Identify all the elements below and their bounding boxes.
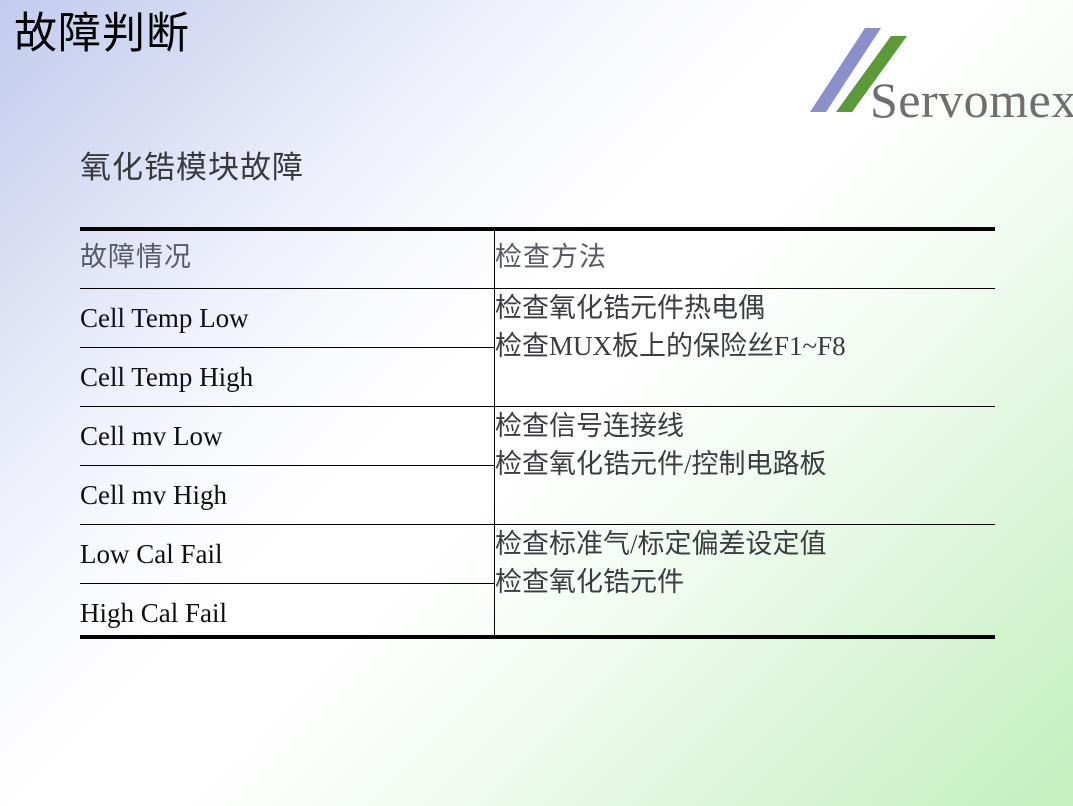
method-cell: 检查信号连接线 检查氧化锆元件/控制电路板 <box>495 407 995 525</box>
method-line: 检查氧化锆元件热电偶 <box>495 289 995 327</box>
fault-cell: Cell mv Low <box>80 407 495 466</box>
table-header-method: 检查方法 <box>495 227 995 289</box>
fault-cell: Cell Temp Low <box>80 289 495 348</box>
method-cell: 检查氧化锆元件热电偶 检查MUX板上的保险丝F1~F8 <box>495 289 995 407</box>
fault-diagnosis-table: 故障情况 检查方法 Cell Temp Low 检查氧化锆元件热电偶 检查MUX… <box>80 227 995 642</box>
page-title: 故障判断 <box>14 6 190 64</box>
table-row: Cell mv Low 检查信号连接线 检查氧化锆元件/控制电路板 <box>80 407 995 466</box>
method-cell: 检查标准气/标定偏差设定值 检查氧化锆元件 <box>495 525 995 643</box>
fault-cell: Cell Temp High <box>80 348 495 407</box>
section-subtitle: 氧化锆模块故障 <box>80 146 304 190</box>
method-line: 检查氧化锆元件 <box>495 563 995 601</box>
table-header-fault: 故障情况 <box>80 227 495 289</box>
table-row: Cell Temp Low 检查氧化锆元件热电偶 检查MUX板上的保险丝F1~F… <box>80 289 995 348</box>
fault-cell: High Cal Fail <box>80 584 495 643</box>
method-line: 检查MUX板上的保险丝F1~F8 <box>495 327 995 365</box>
method-line: 检查标准气/标定偏差设定值 <box>495 525 995 563</box>
logo-wordmark: Servomex <box>870 74 1073 126</box>
fault-cell: Cell mv High <box>80 466 495 525</box>
table-header-row: 故障情况 检查方法 <box>80 227 995 289</box>
method-line: 检查信号连接线 <box>495 407 995 445</box>
servomex-logo: Servomex <box>793 12 1073 130</box>
method-line: 检查氧化锆元件/控制电路板 <box>495 445 995 483</box>
table-row: Low Cal Fail 检查标准气/标定偏差设定值 检查氧化锆元件 <box>80 525 995 584</box>
fault-cell: Low Cal Fail <box>80 525 495 584</box>
slide-canvas: 故障判断 Servomex 氧化锆模块故障 故障情况 检查方法 Cell Tem… <box>0 0 1073 806</box>
